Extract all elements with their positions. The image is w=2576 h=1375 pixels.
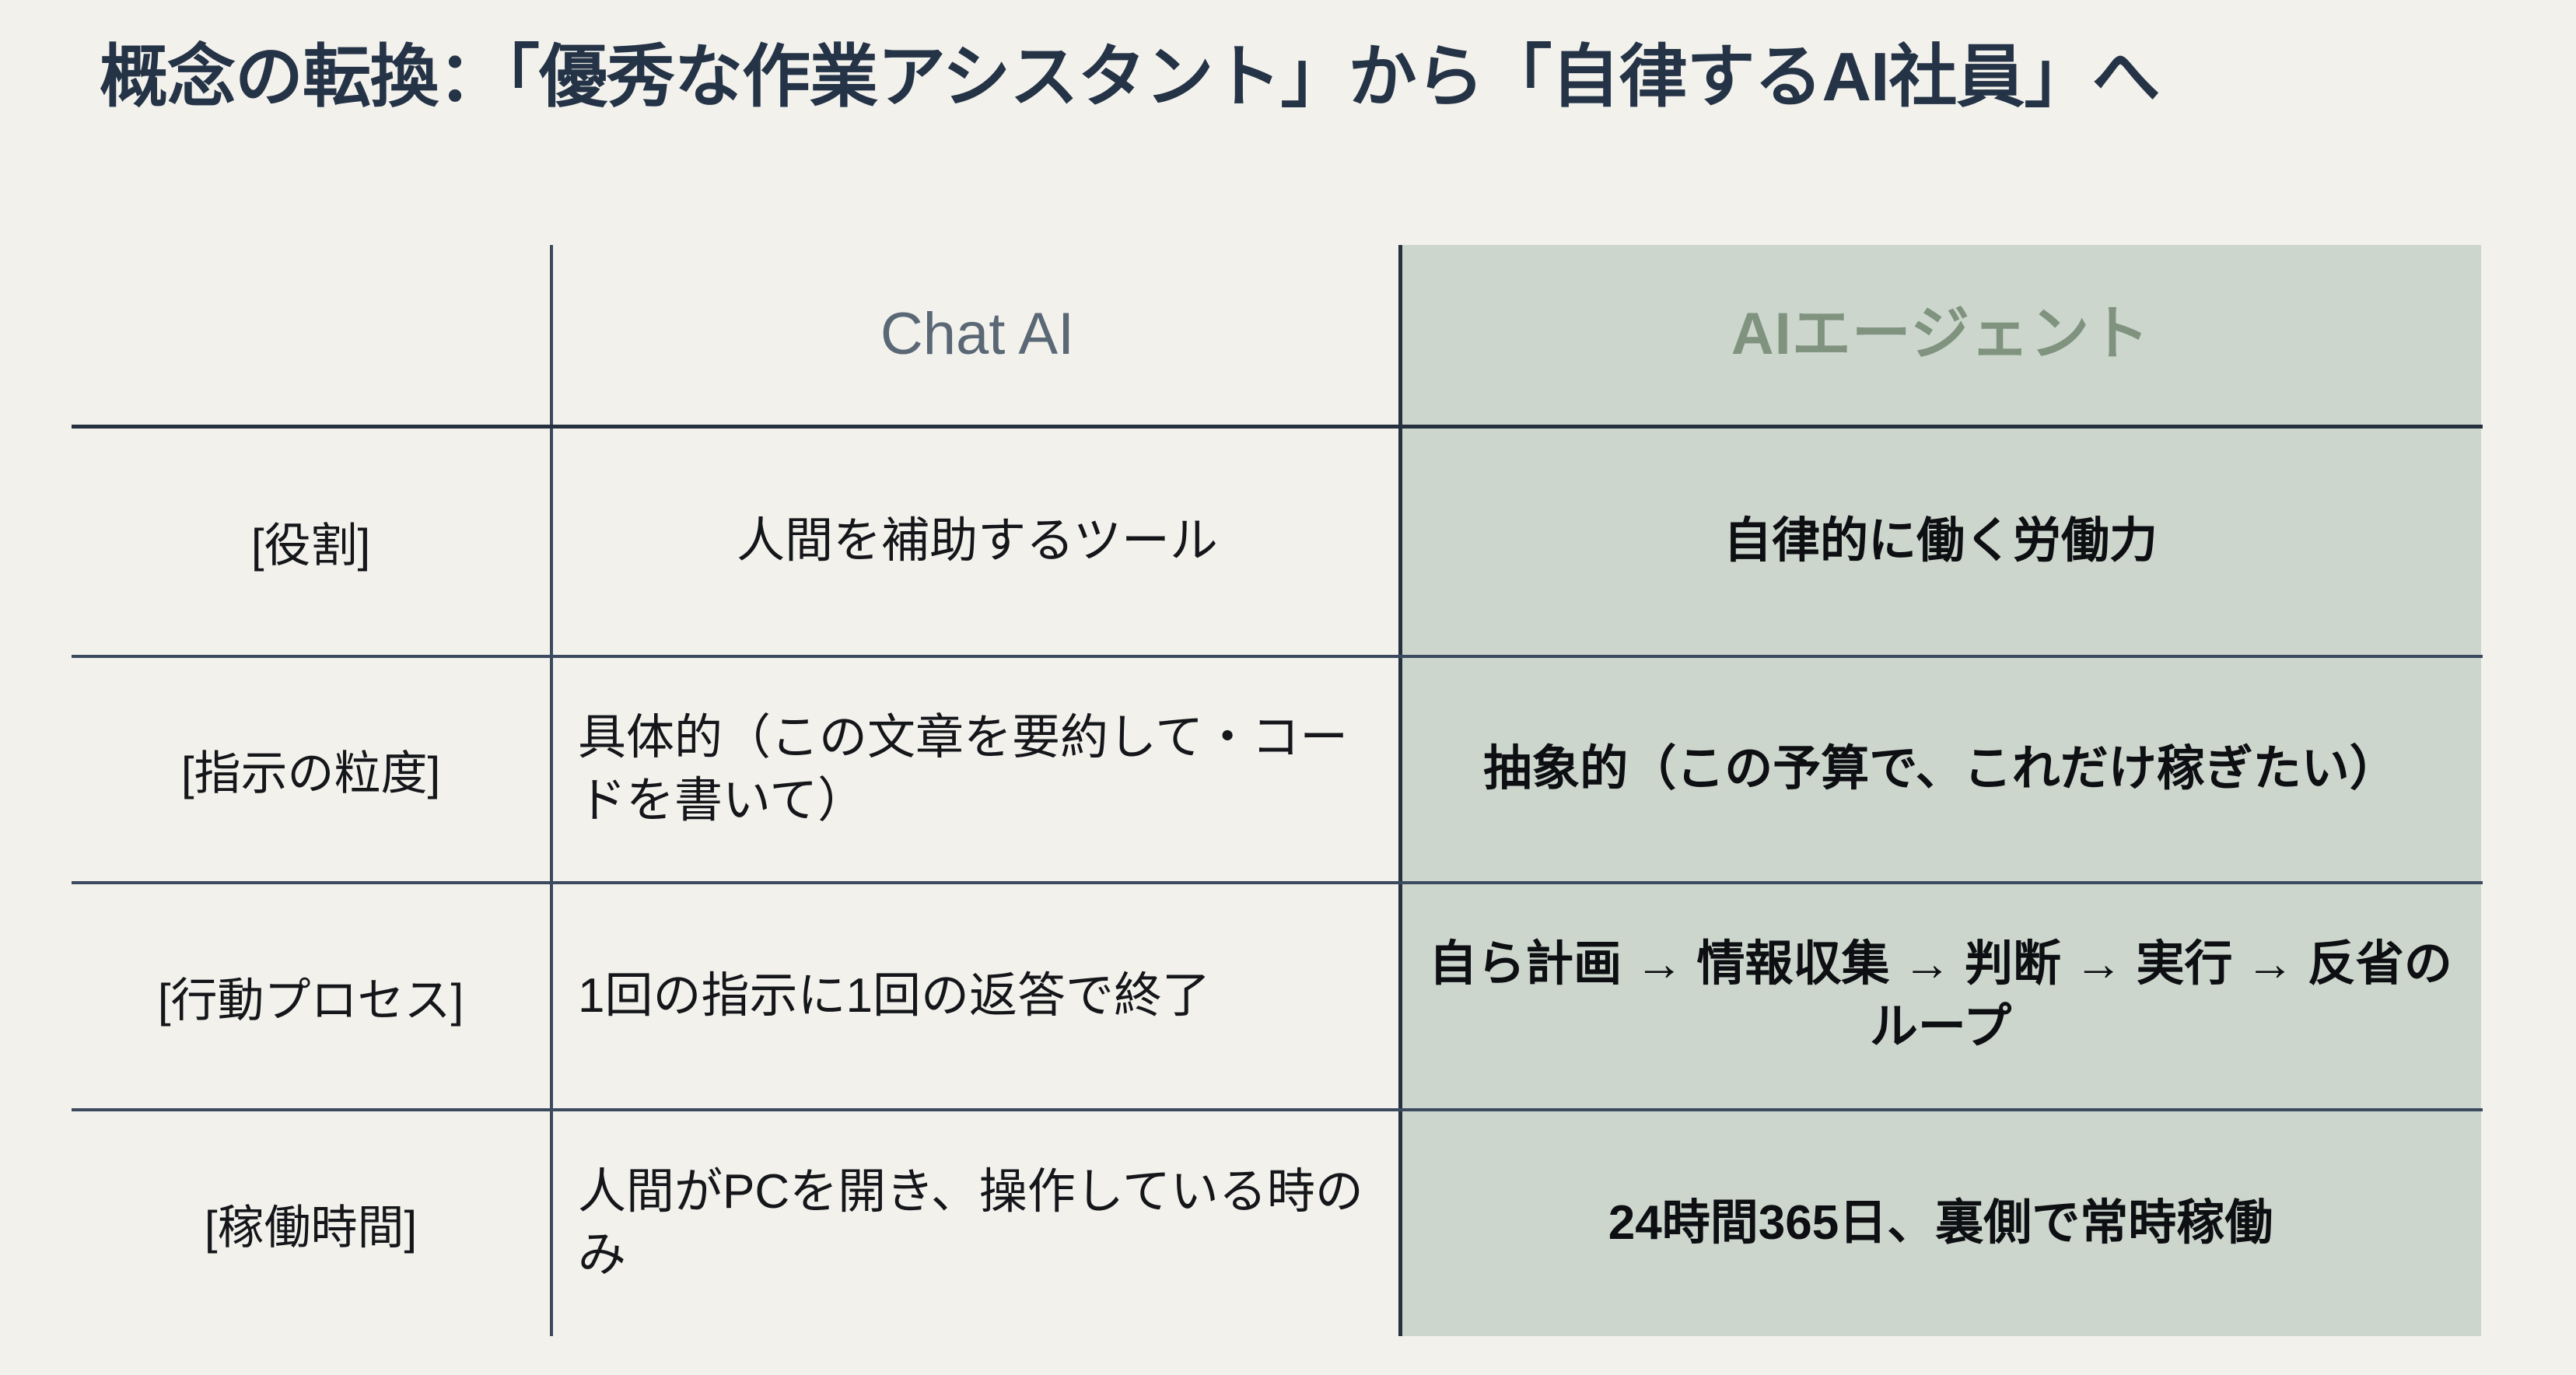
row-label: [行動プロセス] [72, 884, 550, 1108]
header-cell-ai-agent: AIエージェント [1398, 245, 2483, 425]
row-label: [指示の粒度] [72, 658, 550, 881]
table-header-row: Chat AI AIエージェント [72, 245, 2483, 425]
row-agent-value: 自ら計画 → 情報収集 → 判断 → 実行 → 反省のループ [1398, 884, 2483, 1108]
table-row: [稼働時間] 人間がPCを開き、操作している時のみ 24時間365日、裏側で常時… [72, 1111, 2483, 1336]
page-title: 概念の転換：「優秀な作業アシスタント」から「自律するAI社員」へ [100, 37, 2511, 116]
table-row: [指示の粒度] 具体的（この文章を要約して・コードを書いて） 抽象的（この予算で… [72, 658, 2483, 881]
table-row: [行動プロセス] 1回の指示に1回の返答で終了 自ら計画 → 情報収集 → 判断… [72, 884, 2483, 1108]
row-agent-value: 自律的に働く労働力 [1398, 429, 2483, 655]
row-label: [役割] [72, 429, 550, 655]
header-cell-label [72, 245, 550, 425]
comparison-table: Chat AI AIエージェント [役割] 人間を補助するツール 自律的に働く労… [72, 245, 2483, 1338]
row-label: [稼働時間] [72, 1111, 550, 1336]
row-chat-value: 人間を補助するツール [550, 429, 1398, 655]
row-agent-value: 24時間365日、裏側で常時稼働 [1398, 1111, 2483, 1336]
row-agent-value: 抽象的（この予算で、これだけ稼ぎたい） [1398, 658, 2483, 881]
row-chat-value: 1回の指示に1回の返答で終了 [550, 884, 1398, 1108]
header-cell-chat-ai: Chat AI [550, 245, 1398, 425]
row-chat-value: 具体的（この文章を要約して・コードを書いて） [550, 658, 1398, 881]
table-row: [役割] 人間を補助するツール 自律的に働く労働力 [72, 429, 2483, 655]
row-chat-value: 人間がPCを開き、操作している時のみ [550, 1111, 1398, 1336]
